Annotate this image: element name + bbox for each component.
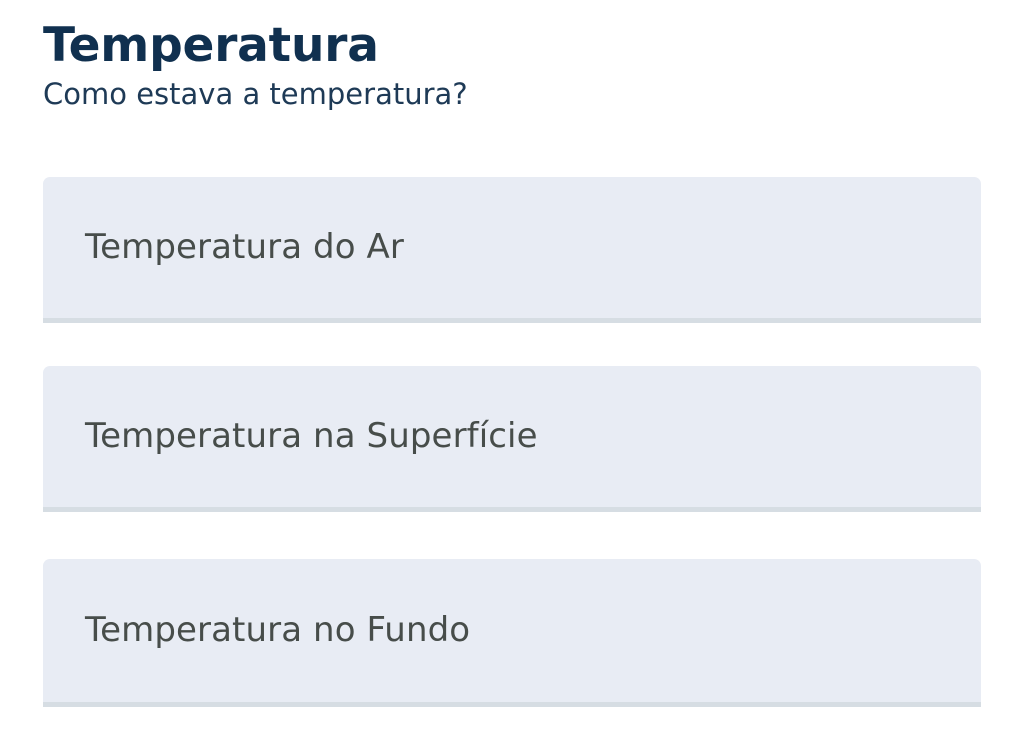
temperature-question-screen: Temperatura Como estava a temperatura? T… [0,0,1024,746]
option-card-temperatura-no-fundo[interactable]: Temperatura no Fundo [43,559,981,707]
option-label: Temperatura do Ar [43,227,428,268]
option-card-temperatura-na-superficie[interactable]: Temperatura na Superfície [43,366,981,512]
page-title: Temperatura [43,22,983,71]
page-subtitle: Como estava a temperatura? [43,77,983,111]
option-card-temperatura-do-ar[interactable]: Temperatura do Ar [43,177,981,323]
page-header: Temperatura Como estava a temperatura? [43,22,983,111]
option-label: Temperatura na Superfície [43,416,562,457]
temperature-options-list: Temperatura do Ar Temperatura na Superfí… [43,177,981,707]
option-label: Temperatura no Fundo [43,610,494,651]
